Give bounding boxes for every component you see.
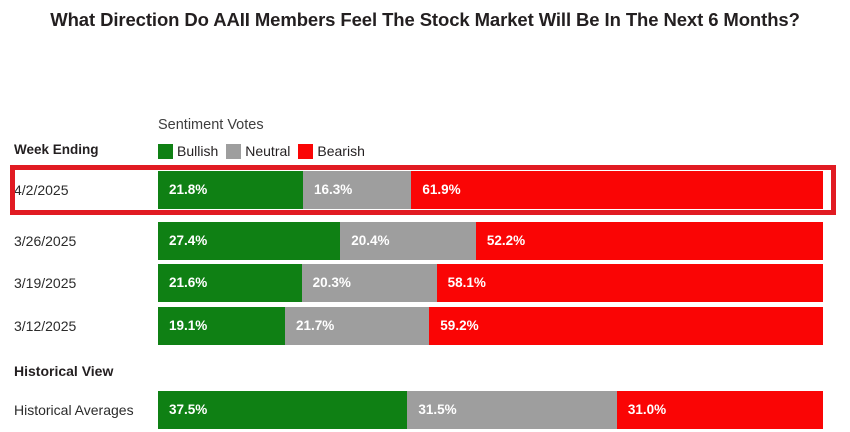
legend-label: Neutral [245,143,290,159]
stacked-bar-track: 19.1%21.7%59.2% [158,307,823,345]
bar-segment-value: 19.1% [169,307,207,345]
bar-segment-value: 20.4% [351,222,389,260]
chart-plot-area: Week Ending Sentiment Votes BullishNeutr… [0,0,850,432]
chart-row[interactable]: 3/19/202521.6%20.3%58.1% [0,264,850,302]
bar-segment-value: 21.8% [169,171,207,209]
stacked-bar-track: 27.4%20.4%52.2% [158,222,823,260]
row-label: 4/2/2025 [14,171,69,209]
bar-segment-value: 58.1% [448,264,486,302]
row-label: 3/12/2025 [14,307,76,345]
bar-segment-bearish[interactable]: 52.2% [476,222,823,260]
bar-segment-bullish[interactable]: 21.8% [158,171,303,209]
bar-segment-value: 20.3% [313,264,351,302]
bar-segment-neutral[interactable]: 20.4% [340,222,476,260]
chart-legend: BullishNeutralBearish [158,142,365,160]
legend-item-bearish[interactable]: Bearish [298,143,364,159]
bar-segment-value: 21.6% [169,264,207,302]
bar-segment-value: 52.2% [487,222,525,260]
legend-label: Bullish [177,143,218,159]
bar-segment-value: 16.3% [314,171,352,209]
historical-view-heading: Historical View [14,363,113,379]
bar-segment-bearish[interactable]: 61.9% [411,171,823,209]
stacked-bar-track: 21.6%20.3%58.1% [158,264,823,302]
chart-row[interactable]: 4/2/202521.8%16.3%61.9% [0,171,850,209]
bar-segment-value: 61.9% [422,171,460,209]
bar-segment-value: 37.5% [169,391,207,429]
bar-segment-value: 31.5% [418,391,456,429]
stacked-bar-track: 21.8%16.3%61.9% [158,171,823,209]
chart-row[interactable]: 3/26/202527.4%20.4%52.2% [0,222,850,260]
square-swatch-icon [298,144,313,159]
legend-item-bullish[interactable]: Bullish [158,143,218,159]
square-swatch-icon [226,144,241,159]
sentiment-votes-heading: Sentiment Votes [158,117,264,133]
row-label: 3/19/2025 [14,264,76,302]
bar-segment-bullish[interactable]: 27.4% [158,222,340,260]
square-swatch-icon [158,144,173,159]
bar-segment-bullish[interactable]: 37.5% [158,391,407,429]
bar-segment-value: 31.0% [628,391,666,429]
bar-segment-bearish[interactable]: 58.1% [437,264,823,302]
legend-label: Bearish [317,143,364,159]
bar-segment-bullish[interactable]: 19.1% [158,307,285,345]
bar-segment-neutral[interactable]: 16.3% [303,171,411,209]
bar-segment-neutral[interactable]: 31.5% [407,391,616,429]
legend-item-neutral[interactable]: Neutral [226,143,290,159]
bar-segment-value: 27.4% [169,222,207,260]
chart-row[interactable]: 3/12/202519.1%21.7%59.2% [0,307,850,345]
week-ending-column-header: Week Ending [14,142,99,157]
row-label: Historical Averages [14,391,134,429]
bar-segment-value: 59.2% [440,307,478,345]
row-label: 3/26/2025 [14,222,76,260]
stacked-bar-track: 37.5%31.5%31.0% [158,391,823,429]
chart-row[interactable]: Historical Averages37.5%31.5%31.0% [0,391,850,429]
bar-segment-value: 21.7% [296,307,334,345]
bar-segment-bearish[interactable]: 59.2% [429,307,823,345]
bar-segment-bearish[interactable]: 31.0% [617,391,823,429]
bar-segment-neutral[interactable]: 20.3% [302,264,437,302]
bar-segment-neutral[interactable]: 21.7% [285,307,429,345]
bar-segment-bullish[interactable]: 21.6% [158,264,302,302]
